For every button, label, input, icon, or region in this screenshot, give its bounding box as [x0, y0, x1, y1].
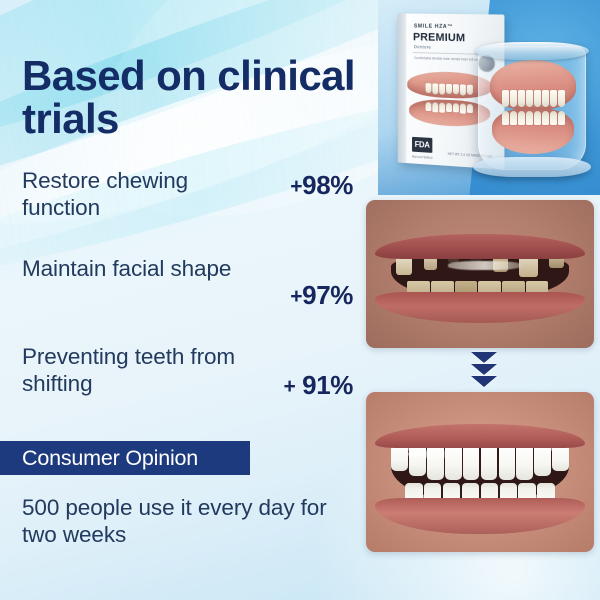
benefit-percentage: + 91% — [283, 370, 353, 401]
list-item: Maintain facial shape +97% — [20, 256, 355, 344]
chevron-down-icon — [471, 376, 497, 387]
product-description: Comfortable flexible resin dental base f… — [414, 56, 485, 63]
tooth-shine — [407, 450, 466, 458]
benefit-value: 97% — [302, 280, 353, 310]
product-image: SMILE HZA™ PREMIUM Denture Comfortable f… — [378, 0, 600, 195]
benefit-percentage: +97% — [290, 280, 353, 311]
benefit-value: 98% — [302, 170, 353, 200]
product-title: PREMIUM — [413, 31, 465, 44]
benefits-list: Restore chewing function +98% Maintain f… — [20, 168, 355, 432]
benefit-label: Preventing teeth from shifting — [22, 344, 250, 398]
denture-upper — [490, 60, 576, 110]
consumer-opinion-banner: Consumer Opinion — [0, 441, 250, 475]
tooth-row — [490, 90, 576, 107]
benefit-label: Restore chewing function — [22, 168, 250, 222]
fda-caption: REGISTERED — [412, 155, 433, 160]
tooth-row — [492, 111, 574, 125]
advertisement-root: Based on clinical trials Restore chewing… — [0, 0, 600, 600]
denture-lower — [492, 108, 574, 154]
before-photo — [366, 200, 594, 348]
tooth-highlight — [448, 261, 521, 270]
page-title: Based on clinical trials — [22, 54, 372, 141]
plus-sign: + — [290, 285, 302, 308]
chevron-down-icon — [470, 352, 498, 387]
plus-sign: + — [283, 375, 295, 398]
consumer-opinion-label: Consumer Opinion — [0, 446, 198, 471]
fda-badge-icon: FDA — [412, 137, 432, 153]
benefit-value: 91% — [302, 370, 353, 400]
product-subtitle: Denture — [414, 44, 431, 49]
jar-rim — [475, 42, 589, 60]
list-item: Preventing teeth from shifting + 91% — [20, 344, 355, 432]
consumer-opinion-body: 500 people use it every day for two week… — [22, 494, 342, 548]
plus-sign: + — [290, 175, 302, 198]
chevron-down-icon — [471, 352, 497, 363]
chevron-down-icon — [471, 364, 497, 375]
after-photo — [366, 392, 594, 552]
list-item: Restore chewing function +98% — [20, 168, 355, 256]
jar-base — [473, 157, 591, 177]
benefit-percentage: +98% — [290, 170, 353, 201]
benefit-label: Maintain facial shape — [22, 256, 250, 283]
product-brand: SMILE HZA™ — [414, 23, 453, 30]
denture-jar — [478, 46, 586, 170]
